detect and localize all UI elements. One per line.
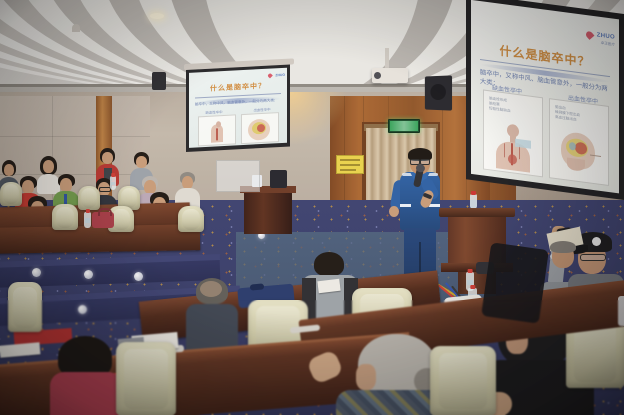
auditorium-lecture-photo: ZHUO 卓正医疗 什么是脑卒中？ 脑卒中，又称中风、脑血管意外，一般分为两大类…: [0, 0, 624, 415]
projector-lens-icon: [374, 72, 381, 79]
auditorium-seat: [52, 204, 78, 230]
auditorium-seat: [430, 346, 496, 415]
foreground-silhouette: [481, 242, 549, 323]
step-light: [134, 272, 143, 281]
eyeglasses-icon: [410, 159, 430, 163]
exit-sign-icon: [388, 119, 420, 133]
lectern-top: [439, 208, 515, 217]
auditorium-seat: [78, 186, 100, 210]
slide-logo: ZHUO: [597, 32, 615, 40]
slide-logo-sub: 卓正医疗: [601, 41, 615, 48]
presenter-left-hand: [389, 206, 399, 217]
eyeglasses-icon: [580, 254, 606, 261]
presenter-sleeve-trim-right: [429, 204, 440, 207]
main-projection-screen: ZHUO 卓正医疗 什么是脑卒中？ 脑卒中，又称中风、脑血管意外，一般分为两大类…: [466, 0, 624, 200]
torso: [50, 372, 122, 415]
projector-mount: [385, 48, 389, 70]
auditorium-seat: [8, 282, 42, 332]
cap-logo-icon: [592, 237, 601, 246]
wall-window: [216, 160, 260, 192]
step-light: [32, 268, 41, 277]
audience-desk: [0, 224, 200, 254]
handbag-handle: [98, 208, 112, 216]
ceiling-camera-icon: [72, 24, 80, 32]
water-bottle: [110, 176, 116, 190]
secondary-projection-screen: ZHUO 什么是脑卒中？ 脑卒中，又称中风、脑血管意外，一般分为两大类： 缺血性…: [186, 65, 290, 152]
downlight: [150, 13, 164, 19]
water-bottle: [84, 212, 91, 228]
wall-speaker: [425, 75, 452, 110]
thermos: [270, 170, 287, 188]
side-slide-logo: ZHUO: [275, 73, 285, 78]
auditorium-seat: [116, 342, 176, 415]
water-bottle: [618, 296, 624, 326]
auditorium-seat: [0, 182, 22, 206]
wall-notice-sign: [336, 155, 364, 174]
face-side: [356, 364, 376, 390]
step-light: [84, 270, 93, 279]
step-light: [78, 305, 87, 314]
auditorium-seat: [178, 206, 204, 232]
av-cabinet: [244, 190, 292, 234]
plaid-top: [336, 390, 444, 415]
wall-speaker-left: [152, 72, 166, 90]
presenter-sleeve-trim-left: [400, 204, 411, 207]
water-bottle: [470, 194, 477, 209]
